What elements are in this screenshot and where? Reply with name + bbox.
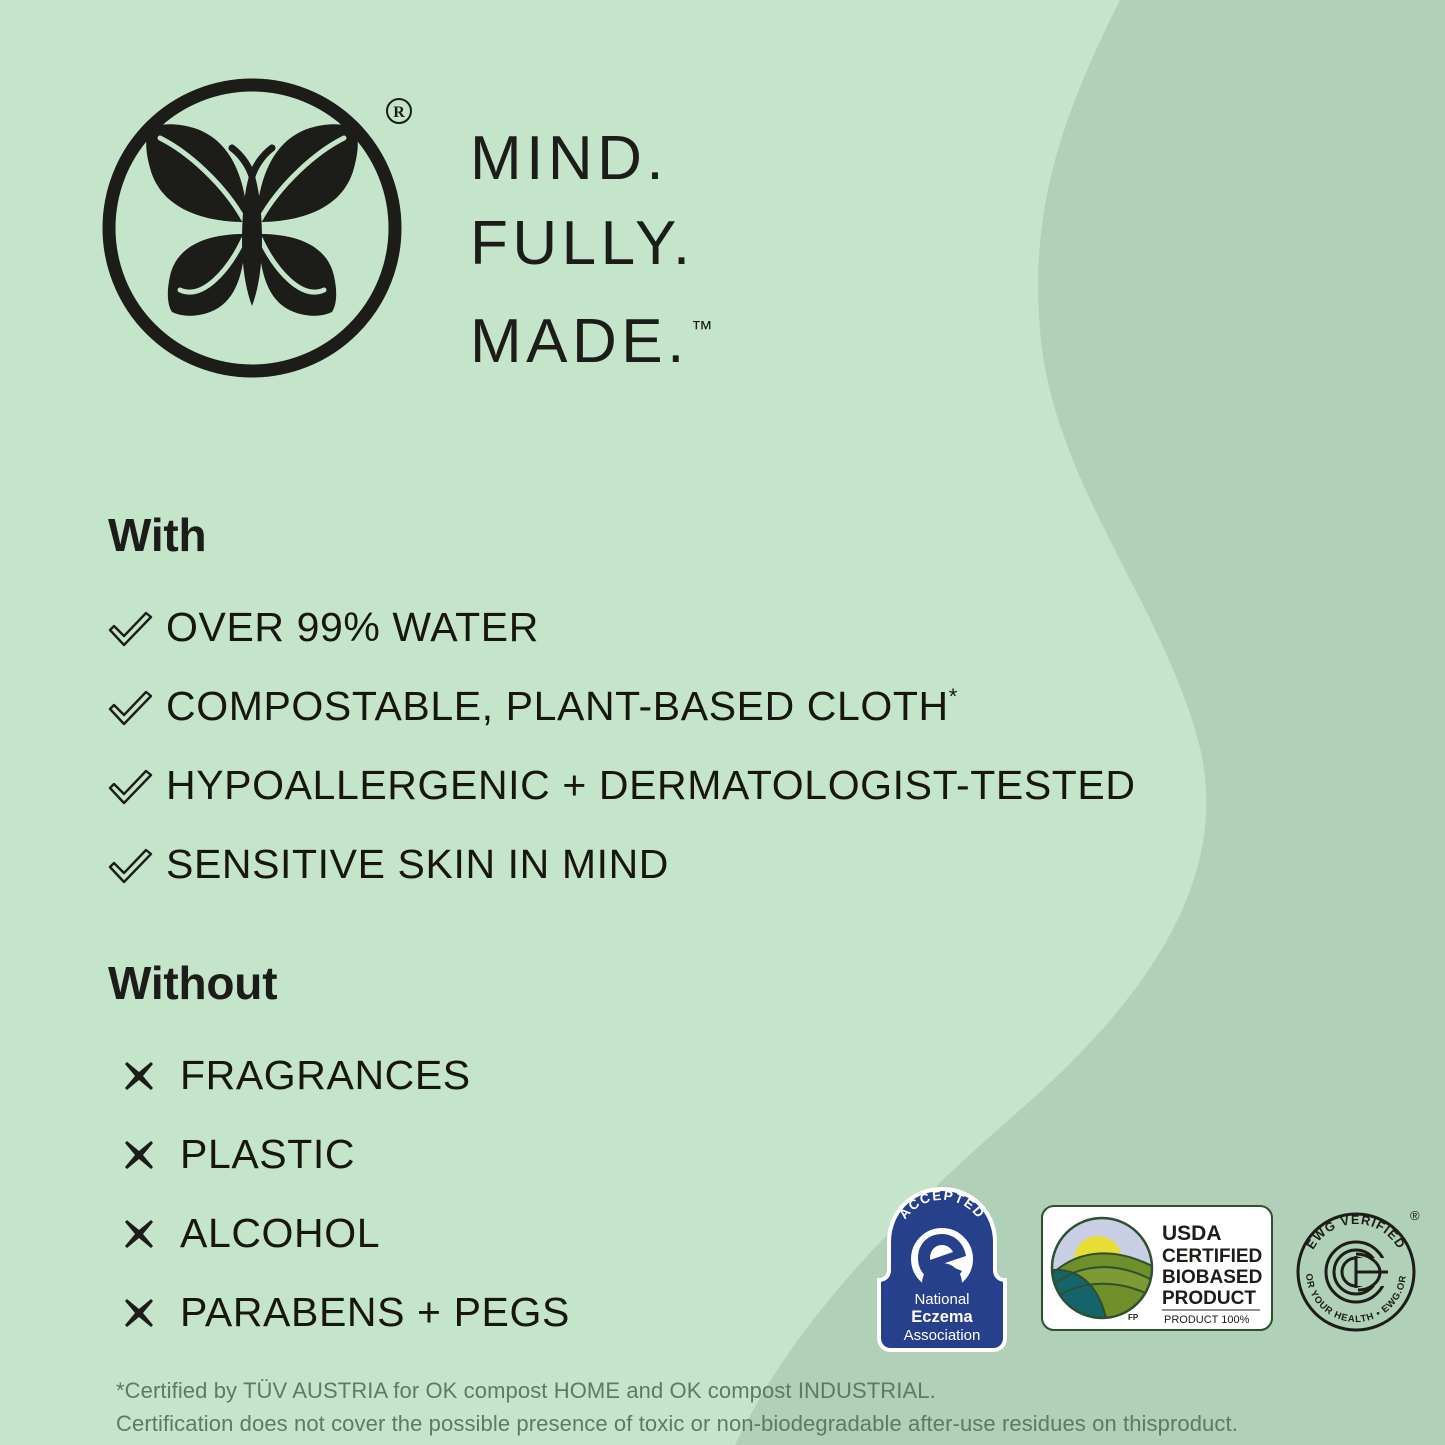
usda-biobased-seal-icon: FP USDA CERTIFIED BIOBASED PRODUCT PRODU… — [1040, 1204, 1274, 1332]
registered-trademark-icon: R — [384, 96, 414, 126]
with-item-label: OVER 99% WATER — [166, 604, 539, 651]
list-item: FRAGRANCES — [108, 1036, 570, 1115]
without-heading: Without — [108, 960, 570, 1006]
product-infographic: R MIND. FULLY. MADE.™ With OVER 99% WATE… — [0, 0, 1445, 1445]
list-item: OVER 99% WATER — [108, 588, 1136, 667]
x-mark-icon — [108, 1217, 180, 1251]
usda-line1: USDA — [1162, 1222, 1222, 1245]
wordmark-line-made: MADE.™ — [470, 286, 713, 384]
without-list: FRAGRANCES PLASTIC ALCOHOL — [108, 1036, 570, 1352]
nea-line2: Eczema — [911, 1308, 973, 1326]
list-item: COMPOSTABLE, PLANT-BASED CLOTH* — [108, 667, 1136, 746]
usda-corner-code: FP — [1128, 1313, 1139, 1322]
usda-line4: PRODUCT — [1162, 1288, 1256, 1309]
with-heading: With — [108, 512, 1136, 558]
without-item-label: ALCOHOL — [180, 1210, 380, 1257]
usda-line3: BIOBASED — [1162, 1267, 1262, 1288]
svg-text:R: R — [393, 104, 405, 121]
without-item-label: PARABENS + PEGS — [180, 1289, 570, 1336]
footnote: *Certified by TÜV AUSTRIA for OK compost… — [116, 1374, 1316, 1440]
nea-line3: Association — [904, 1327, 981, 1344]
ewg-arc-top-text: EWG VERIFIED — [1304, 1213, 1409, 1252]
trademark-symbol: ™ — [691, 316, 714, 341]
check-outline-icon — [108, 766, 166, 806]
certification-badges: ACCEPTED National Eczema Association — [872, 1186, 1428, 1354]
brand-wordmark: MIND. FULLY. MADE.™ — [470, 116, 713, 384]
ewg-registered-symbol: ® — [1410, 1208, 1420, 1223]
wordmark-made-text: MADE. — [470, 307, 689, 376]
x-mark-icon — [108, 1296, 180, 1330]
without-item-label: FRAGRANCES — [180, 1052, 471, 1099]
check-outline-icon — [108, 845, 166, 885]
ewg-verified-seal-icon: EWG VERIFIED FOR YOUR HEALTH • EWG.ORG ® — [1290, 1198, 1428, 1338]
footnote-asterisk: * — [949, 684, 958, 709]
list-item: ALCOHOL — [108, 1194, 570, 1273]
with-list: OVER 99% WATER COMPOSTABLE, PLANT-BASED … — [108, 588, 1136, 904]
with-item-label: SENSITIVE SKIN IN MIND — [166, 841, 669, 888]
usda-sub: PRODUCT 100% — [1164, 1314, 1250, 1326]
brand-lockup: R MIND. FULLY. MADE.™ — [96, 72, 816, 402]
nea-line1: National — [914, 1291, 969, 1308]
without-section: Without FRAGRANCES PLASTIC — [108, 960, 570, 1352]
wordmark-line-fully: FULLY. — [470, 201, 713, 286]
list-item: PLASTIC — [108, 1115, 570, 1194]
list-item: SENSITIVE SKIN IN MIND — [108, 825, 1136, 904]
x-mark-icon — [108, 1059, 180, 1093]
svg-text:EWG VERIFIED: EWG VERIFIED — [1304, 1213, 1409, 1252]
x-mark-icon — [108, 1138, 180, 1172]
usda-line2: CERTIFIED — [1162, 1246, 1262, 1267]
list-item: HYPOALLERGENIC + DERMATOLOGIST-TESTED — [108, 746, 1136, 825]
footnote-line-1: *Certified by TÜV AUSTRIA for OK compost… — [116, 1374, 1316, 1407]
nea-seal-icon: ACCEPTED National Eczema Association — [872, 1186, 1012, 1354]
check-outline-icon — [108, 608, 166, 648]
footnote-line-2: Certification does not cover the possibl… — [116, 1407, 1316, 1440]
list-item: PARABENS + PEGS — [108, 1273, 570, 1352]
butterfly-in-circle-logo-icon — [96, 72, 408, 384]
check-outline-icon — [108, 687, 166, 727]
with-item-label: COMPOSTABLE, PLANT-BASED CLOTH — [166, 683, 949, 729]
wordmark-line-mind: MIND. — [470, 116, 713, 201]
with-item-label: HYPOALLERGENIC + DERMATOLOGIST-TESTED — [166, 762, 1136, 809]
with-section: With OVER 99% WATER COMPOSTABLE, PLANT-B… — [108, 512, 1136, 904]
without-item-label: PLASTIC — [180, 1131, 355, 1178]
